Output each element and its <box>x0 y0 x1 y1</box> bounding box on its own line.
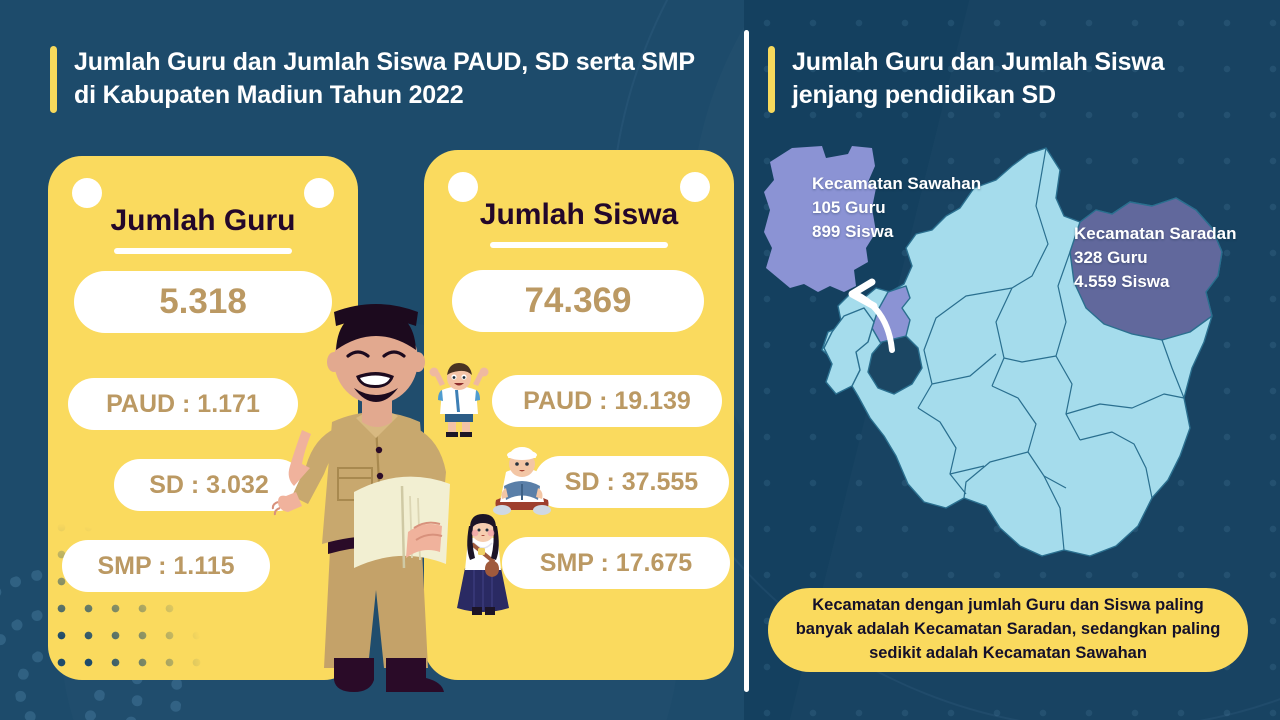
card-guru-title: Jumlah Guru <box>48 204 358 238</box>
stat-card-guru: Jumlah Guru 5.318 PAUD : 1.171 SD : 3.03… <box>48 156 358 680</box>
infographic-canvas: Jumlah Guru dan Jumlah Siswa PAUD, SD se… <box>0 0 1280 720</box>
right-section-title: Jumlah Guru dan Jumlah Siswa jenjang pen… <box>768 46 1238 113</box>
map-callout-sawahan: Kecamatan Sawahan 105 Guru 899 Siswa <box>812 172 981 244</box>
callout-student-count: 4.559 Siswa <box>1074 270 1237 294</box>
callout-student-count: 899 Siswa <box>812 220 981 244</box>
map-summary-caption: Kecamatan dengan jumlah Guru dan Siswa p… <box>768 588 1248 672</box>
card-title-underline <box>114 248 292 254</box>
stat-card-siswa: Jumlah Siswa 74.369 PAUD : 19.139 SD : 3… <box>424 150 734 680</box>
callout-district-name: Kecamatan Saradan <box>1074 222 1237 246</box>
guru-total-value: 5.318 <box>74 271 332 333</box>
siswa-paud-row: PAUD : 19.139 <box>492 375 722 427</box>
guru-smp-row: SMP : 1.115 <box>62 540 270 592</box>
map-callout-saradan: Kecamatan Saradan 328 Guru 4.559 Siswa <box>1074 222 1237 294</box>
siswa-sd-row: SD : 37.555 <box>534 456 729 508</box>
siswa-smp-row: SMP : 17.675 <box>502 537 730 589</box>
right-title-text: Jumlah Guru dan Jumlah Siswa jenjang pen… <box>792 46 1238 113</box>
vertical-divider <box>744 30 749 692</box>
card-title-underline <box>490 242 668 248</box>
callout-teacher-count: 105 Guru <box>812 196 981 220</box>
title-accent-bar <box>768 46 775 113</box>
card-siswa-title: Jumlah Siswa <box>424 198 734 232</box>
left-section-title: Jumlah Guru dan Jumlah Siswa PAUD, SD se… <box>50 46 710 113</box>
left-title-text: Jumlah Guru dan Jumlah Siswa PAUD, SD se… <box>74 46 710 113</box>
guru-sd-row: SD : 3.032 <box>114 459 304 511</box>
callout-teacher-count: 328 Guru <box>1074 246 1237 270</box>
siswa-total-value: 74.369 <box>452 270 704 332</box>
callout-district-name: Kecamatan Sawahan <box>812 172 981 196</box>
guru-paud-row: PAUD : 1.171 <box>68 378 298 430</box>
title-accent-bar <box>50 46 57 113</box>
